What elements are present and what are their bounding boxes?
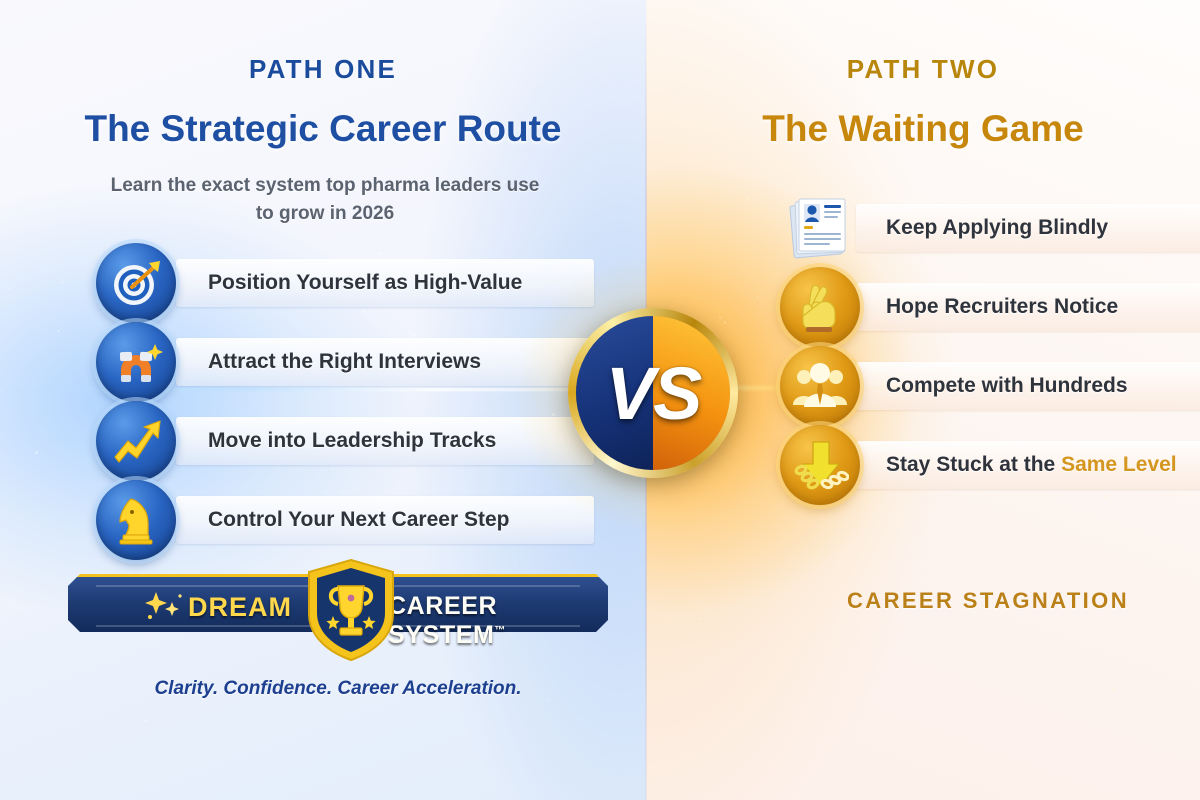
right-footer-label: CAREER STAGNATION bbox=[776, 588, 1200, 614]
left-kicker: PATH ONE bbox=[0, 54, 646, 85]
brand-tagline: Clarity. Confidence. Career Acceleration… bbox=[68, 678, 608, 700]
target-icon bbox=[96, 243, 176, 323]
right-headline: The Waiting Game bbox=[646, 108, 1200, 150]
versus-label: VS bbox=[568, 308, 738, 478]
growth-arrow-icon bbox=[96, 401, 176, 481]
list-item[interactable]: Position Yourself as High-Value bbox=[92, 245, 612, 321]
trademark-mark: ™ bbox=[494, 625, 506, 637]
list-item[interactable]: Control Your Next Career Step bbox=[92, 482, 612, 558]
list-item[interactable]: Keep Applying Blindly bbox=[776, 190, 1200, 266]
trophy-shield-icon bbox=[305, 558, 397, 662]
list-item-label: Control Your Next Career Step bbox=[208, 508, 509, 532]
crossed-fingers-icon bbox=[780, 267, 860, 347]
infographic-canvas: PATH ONE The Strategic Career Route Lear… bbox=[0, 0, 1200, 800]
right-kicker: PATH TWO bbox=[646, 54, 1200, 85]
list-item-label: Move into Leadership Tracks bbox=[208, 429, 496, 453]
sparkle-icon bbox=[142, 590, 188, 624]
left-headline: The Strategic Career Route bbox=[0, 108, 646, 150]
chess-knight-icon bbox=[96, 480, 176, 560]
banner-word-one: DREAM bbox=[188, 592, 292, 623]
list-item[interactable]: Stay Stuck at the Same Level bbox=[776, 427, 1200, 503]
chained-down-arrow-icon bbox=[780, 425, 860, 505]
versus-badge: VS bbox=[568, 308, 738, 478]
list-item-label: Attract the Right Interviews bbox=[208, 350, 481, 374]
list-item[interactable]: Hope Recruiters Notice bbox=[776, 269, 1200, 345]
list-item[interactable]: Compete with Hundreds bbox=[776, 348, 1200, 424]
left-subtitle: Learn the exact system top pharma leader… bbox=[110, 172, 540, 227]
list-item-label-main: Stay Stuck at the bbox=[886, 453, 1061, 476]
right-feature-list: Keep Applying Blindly Hope Recruiters No… bbox=[776, 190, 1200, 506]
list-item-label: Position Yourself as High-Value bbox=[208, 271, 522, 295]
brand-banner: DREAM CAREER SYSTEM™ bbox=[68, 566, 608, 638]
list-item-label: Keep Applying Blindly bbox=[886, 216, 1108, 240]
list-item-label: Stay Stuck at the Same Level bbox=[886, 453, 1177, 477]
list-item-label: Hope Recruiters Notice bbox=[886, 295, 1118, 319]
resume-stack-icon bbox=[780, 188, 860, 268]
magnet-icon bbox=[96, 322, 176, 402]
banner-word-two: CAREER SYSTEM™ bbox=[388, 592, 608, 650]
banner-word-two-text: CAREER SYSTEM bbox=[388, 592, 497, 649]
list-item-label: Compete with Hundreds bbox=[886, 374, 1128, 398]
list-item-label-highlight: Same Level bbox=[1061, 453, 1177, 476]
